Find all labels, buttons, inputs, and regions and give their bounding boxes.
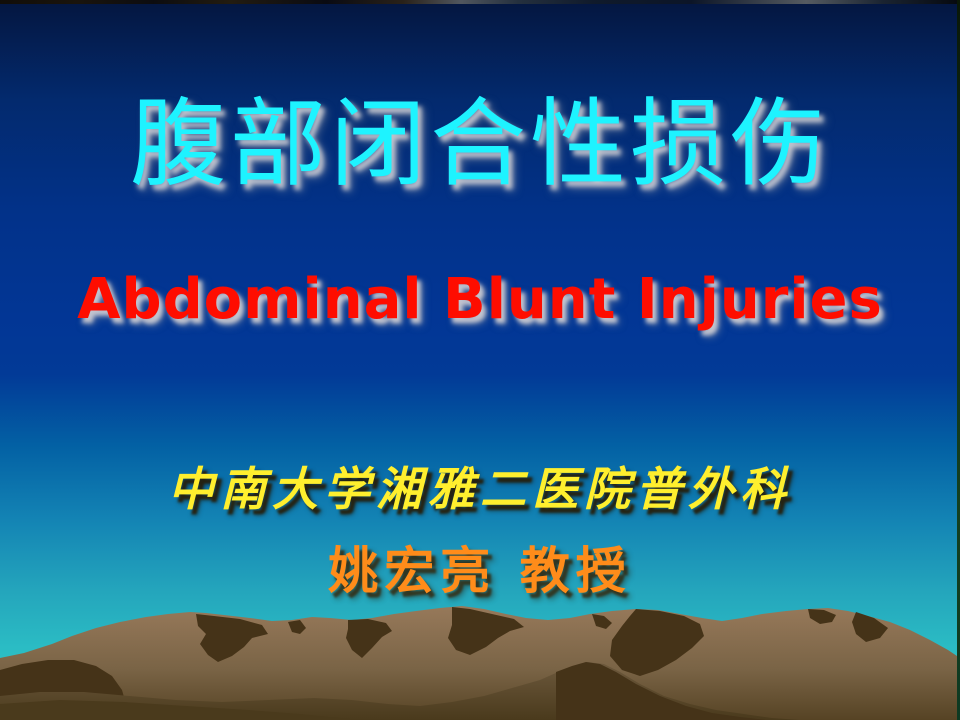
title-slide: 腹部闭合性损伤 Abdominal Blunt Injuries 中南大学湘雅二… bbox=[0, 0, 960, 720]
slide-text-layer: 腹部闭合性损伤 Abdominal Blunt Injuries 中南大学湘雅二… bbox=[0, 0, 960, 720]
top-edge-strip bbox=[0, 0, 960, 4]
slide-author: 姚宏亮 教授 bbox=[0, 546, 960, 596]
slide-organization: 中南大学湘雅二医院普外科 bbox=[0, 466, 960, 512]
slide-title-chinese: 腹部闭合性损伤 bbox=[0, 96, 960, 192]
slide-title-english: Abdominal Blunt Injuries bbox=[0, 272, 960, 328]
